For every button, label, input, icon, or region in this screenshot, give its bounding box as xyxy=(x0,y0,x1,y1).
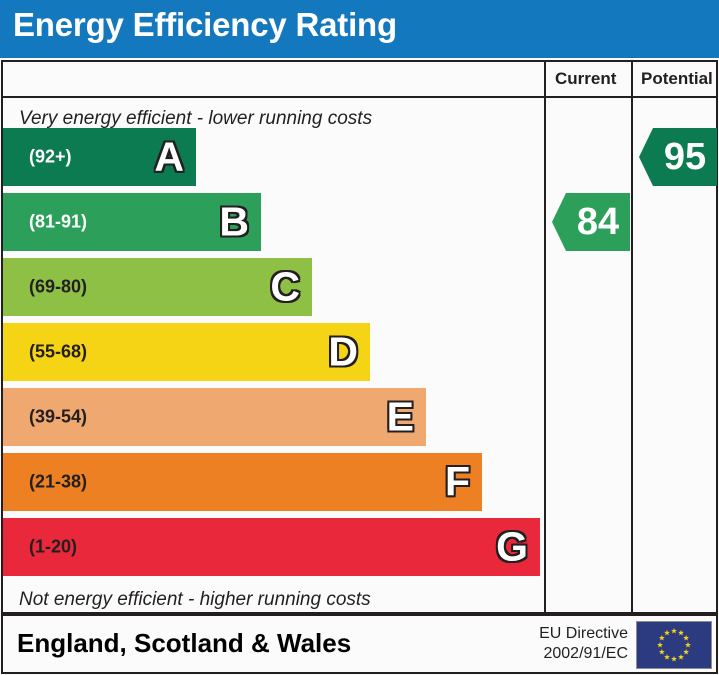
column-header-potential: Potential xyxy=(641,69,713,89)
band-range-label: (69-80) xyxy=(29,277,87,298)
band-e: (39-54)E xyxy=(3,388,426,446)
band-range-label: (21-38) xyxy=(29,472,87,493)
potential-rating-value: 95 xyxy=(664,138,706,176)
potential-rating-badge: 95 xyxy=(639,128,717,186)
potential-column-divider xyxy=(631,62,633,612)
band-f: (21-38)F xyxy=(3,453,482,511)
column-header-current: Current xyxy=(555,69,616,89)
band-range-label: (81-91) xyxy=(29,212,87,233)
eu-directive-line2: 2002/91/EC xyxy=(523,644,628,664)
band-letter-label: B xyxy=(219,202,249,243)
band-d: (55-68)D xyxy=(3,323,370,381)
band-letter-label: E xyxy=(387,397,414,438)
band-letter-label: F xyxy=(445,462,470,503)
current-rating-badge: 84 xyxy=(552,193,630,251)
band-letter-label: C xyxy=(270,267,300,308)
rating-table: Current Potential Very energy efficient … xyxy=(1,60,718,614)
band-letter-label: A xyxy=(154,137,184,178)
header-divider xyxy=(3,96,716,98)
current-rating-value: 84 xyxy=(577,203,619,241)
caption-top: Very energy efficient - lower running co… xyxy=(19,108,372,130)
band-letter-label: G xyxy=(496,527,528,568)
band-b: (81-91)B xyxy=(3,193,261,251)
band-range-label: (1-20) xyxy=(29,537,77,558)
eu-flag-icon xyxy=(636,621,712,669)
energy-efficiency-certificate: Energy Efficiency Rating Current Potenti… xyxy=(0,0,719,675)
band-range-label: (92+) xyxy=(29,147,72,168)
footer-region-label: England, Scotland & Wales xyxy=(17,628,351,659)
band-range-label: (55-68) xyxy=(29,342,87,363)
eu-directive-line1: EU Directive xyxy=(523,624,628,644)
footer: England, Scotland & Wales EU Directive 2… xyxy=(1,614,718,674)
band-a: (92+)A xyxy=(3,128,196,186)
title-bar: Energy Efficiency Rating xyxy=(0,0,719,58)
band-c: (69-80)C xyxy=(3,258,312,316)
page-title: Energy Efficiency Rating xyxy=(13,6,397,44)
band-g: (1-20)G xyxy=(3,518,540,576)
band-range-label: (39-54) xyxy=(29,407,87,428)
eu-directive-text: EU Directive 2002/91/EC xyxy=(523,624,628,664)
band-letter-label: D xyxy=(328,332,358,373)
current-column-divider xyxy=(544,62,546,612)
caption-bottom: Not energy efficient - higher running co… xyxy=(19,589,371,611)
